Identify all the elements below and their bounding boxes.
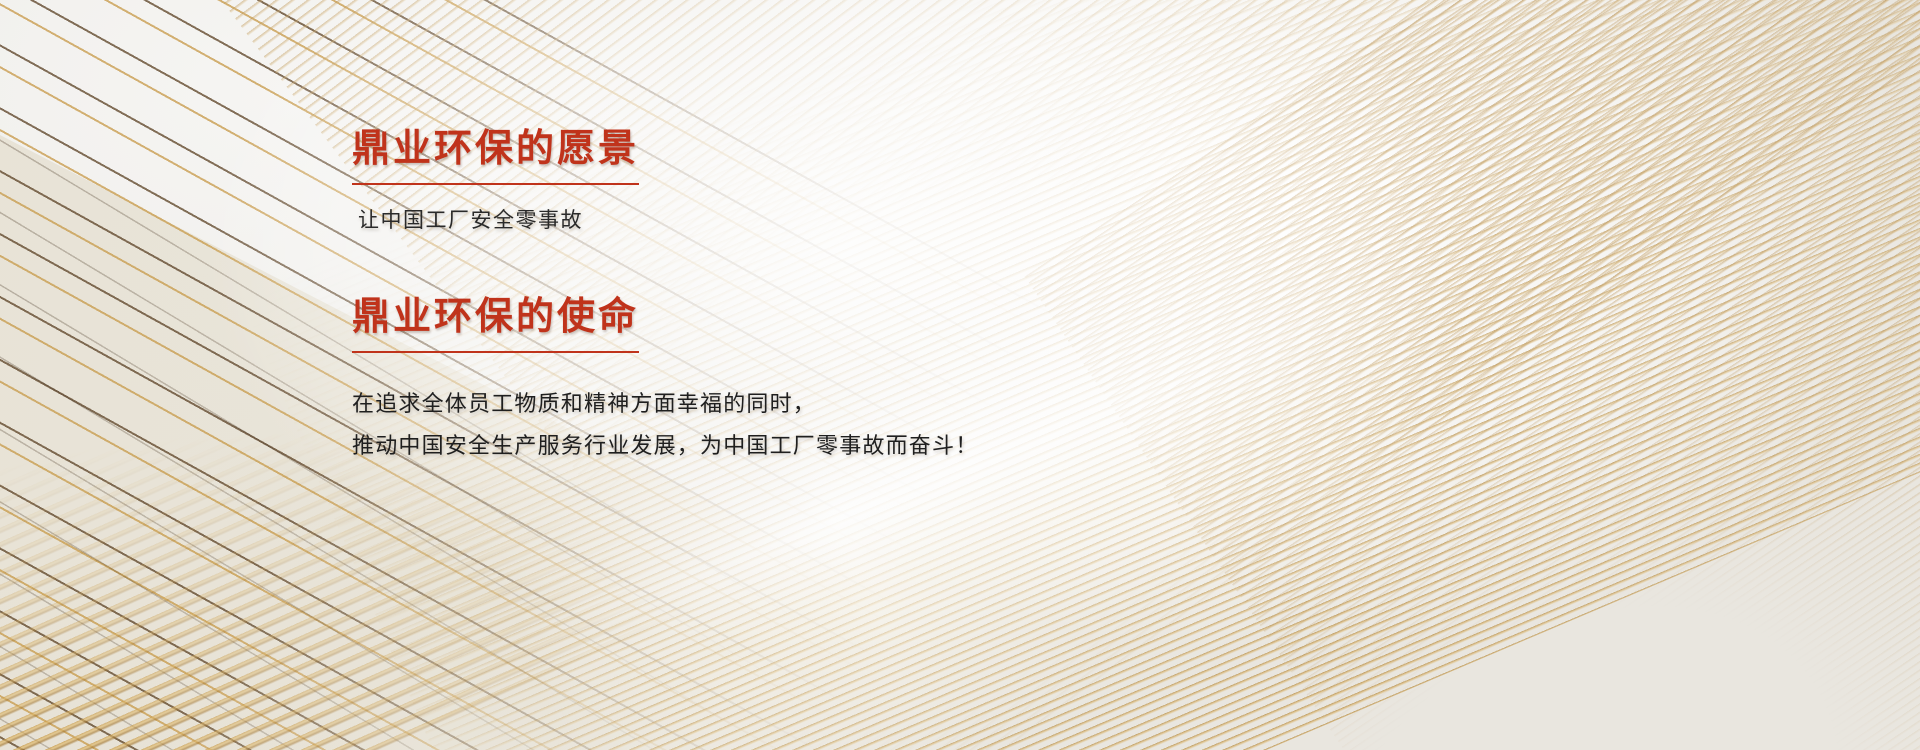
- mission-heading: 鼎业环保的使命: [352, 294, 639, 353]
- mission-body: 在追求全体员工物质和精神方面幸福的同时， 推动中国安全生产服务行业发展，为中国工…: [352, 383, 1252, 469]
- vision-subtitle: 让中国工厂安全零事故: [358, 205, 1252, 237]
- vision-heading: 鼎业环保的愿景: [352, 126, 639, 185]
- vision-mission-banner: 鼎业环保的愿景 让中国工厂安全零事故 鼎业环保的使命 在追求全体员工物质和精神方…: [0, 0, 1920, 750]
- mission-body-line: 在追求全体员工物质和精神方面幸福的同时，: [352, 383, 1252, 426]
- vision-block: 鼎业环保的愿景 让中国工厂安全零事故: [352, 126, 1252, 236]
- mission-body-line: 推动中国安全生产服务行业发展，为中国工厂零事故而奋斗！: [352, 425, 1252, 468]
- banner-content: 鼎业环保的愿景 让中国工厂安全零事故 鼎业环保的使命 在追求全体员工物质和精神方…: [352, 126, 1252, 468]
- mission-block: 鼎业环保的使命 在追求全体员工物质和精神方面幸福的同时， 推动中国安全生产服务行…: [352, 294, 1252, 468]
